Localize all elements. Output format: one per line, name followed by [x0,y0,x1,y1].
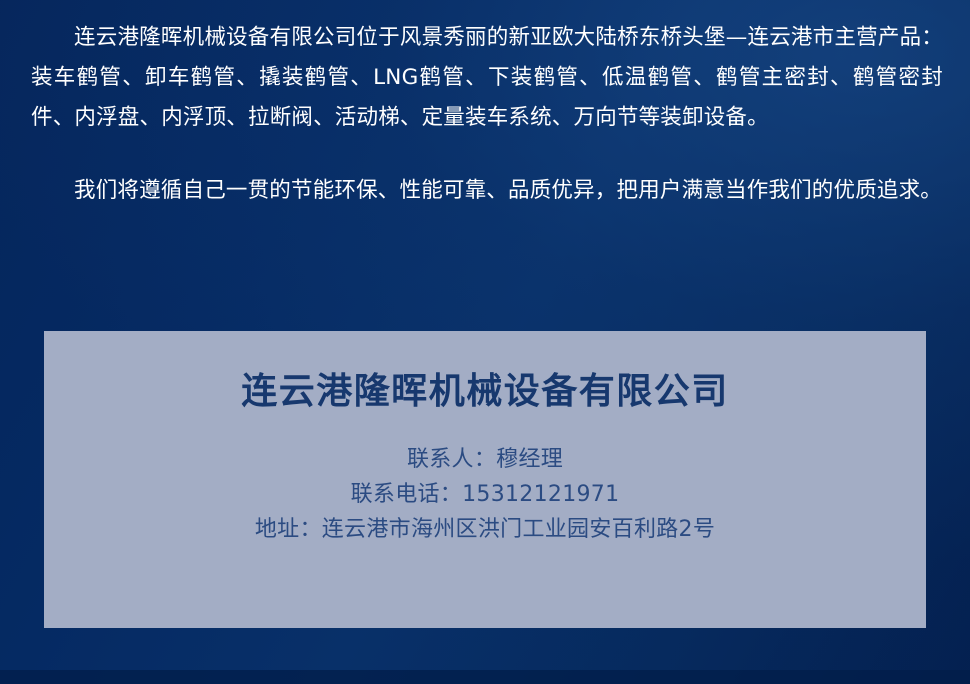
intro-paragraph-1: 连云港隆晖机械设备有限公司位于风景秀丽的新亚欧大陆桥东桥头堡—连云港市主营产品：… [31,18,943,138]
contact-phone-row: 联系电话：15312121971 [68,477,902,512]
contact-address-label: 地址： [255,517,322,542]
contact-card: 连云港隆晖机械设备有限公司 联系人：穆经理 联系电话：15312121971 地… [44,331,926,628]
contact-phone-label: 联系电话： [351,482,463,507]
intro-paragraph-2: 我们将遵循自己一贯的节能环保、性能可靠、品质优异，把用户满意当作我们的优质追求。 [31,171,943,211]
contact-details-list: 联系人：穆经理 联系电话：15312121971 地址：连云港市海州区洪门工业园… [68,442,902,547]
contact-address-row: 地址：连云港市海州区洪门工业园安百利路2号 [68,512,902,547]
contact-address-value: 连云港市海州区洪门工业园安百利路2号 [322,517,715,542]
contact-person-row: 联系人：穆经理 [68,442,902,477]
contact-person-label: 联系人： [407,447,496,472]
company-name-heading: 连云港隆晖机械设备有限公司 [68,369,902,414]
intro-section: 连云港隆晖机械设备有限公司位于风景秀丽的新亚欧大陆桥东桥头堡—连云港市主营产品：… [31,18,943,211]
contact-person-value: 穆经理 [496,447,563,472]
contact-phone-value[interactable]: 15312121971 [462,482,619,507]
page-root: 连云港隆晖机械设备有限公司位于风景秀丽的新亚欧大陆桥东桥头堡—连云港市主营产品：… [0,0,970,684]
